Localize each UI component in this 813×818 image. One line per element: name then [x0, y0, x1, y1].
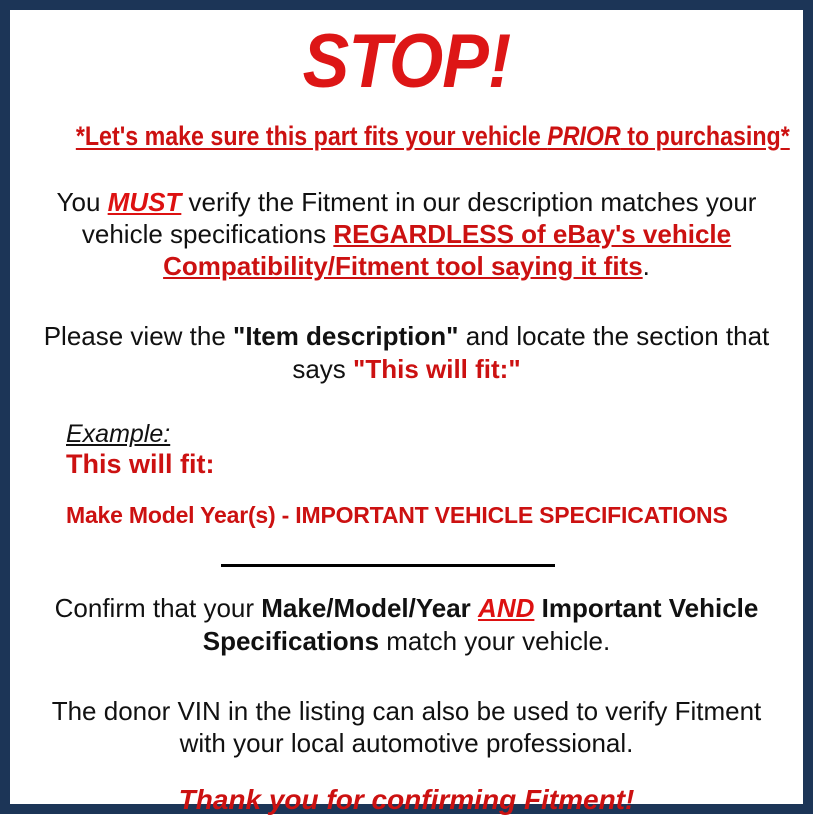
- example-label-row: Example:: [66, 421, 791, 447]
- emphasis-and: AND: [478, 593, 534, 623]
- horizontal-divider: [221, 564, 555, 567]
- confirm-text-2: match your vehicle.: [379, 626, 610, 656]
- bold-make-model-year: Make/Model/Year: [261, 593, 471, 623]
- example-label: Example:: [66, 420, 170, 448]
- example-fit-heading: This will fit:: [66, 449, 791, 481]
- example-block: Example: This will fit: Make Model Year(…: [22, 421, 791, 528]
- red-this-will-fit-quote: "This will fit:": [353, 354, 521, 384]
- fitment-notice-card: STOP! *Let's make sure this part fits yo…: [0, 0, 813, 814]
- view-text-1: Please view the: [44, 321, 233, 351]
- bold-item-description: "Item description": [233, 321, 458, 351]
- stop-headline: STOP!: [53, 24, 760, 100]
- example-spec-line: Make Model Year(s) - IMPORTANT VEHICLE S…: [66, 503, 791, 528]
- paragraph-item-description: Please view the "Item description" and l…: [22, 320, 791, 384]
- notice-content: STOP! *Let's make sure this part fits yo…: [10, 24, 803, 818]
- paragraph-confirm-match: Confirm that your Make/Model/Year AND Im…: [22, 592, 791, 656]
- subtitle-text-after: to purchasing*: [621, 121, 790, 151]
- subtitle-text-before: *Let's make sure this part fits your veh…: [76, 121, 547, 151]
- subtitle-banner: *Let's make sure this part fits your veh…: [76, 122, 737, 152]
- paragraph-verify-fitment: You MUST verify the Fitment in our descr…: [22, 186, 791, 283]
- verify-text-3: .: [643, 251, 650, 281]
- emphasis-must: MUST: [108, 187, 182, 217]
- confirm-text-1: Confirm that your: [55, 593, 262, 623]
- closing-thank-you: Thank you for confirming Fitment!: [22, 785, 791, 816]
- subtitle-emphasis-prior: PRIOR: [547, 121, 621, 151]
- verify-text-1: You: [57, 187, 108, 217]
- paragraph-donor-vin: The donor VIN in the listing can also be…: [22, 695, 791, 759]
- divider-wrapper: [22, 554, 791, 572]
